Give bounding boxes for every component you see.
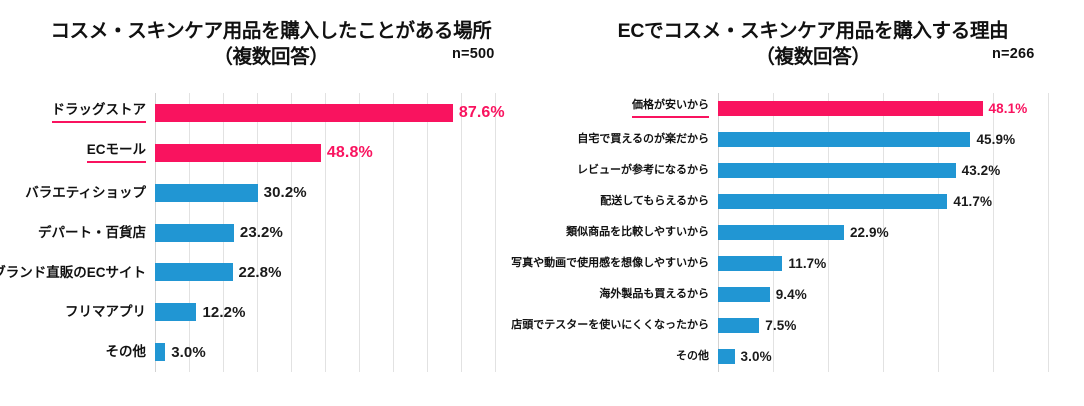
category-label: 海外製品も買えるから [599, 289, 709, 300]
category-label: 自宅で買えるのが楽だから [577, 134, 709, 145]
chart-title-left-line1: コスメ・スキンケア用品を購入したことがある場所 [50, 20, 491, 42]
bar-value-label: 11.7% [788, 256, 826, 271]
bar-value-label: 22.8% [239, 264, 282, 281]
bar [155, 184, 258, 202]
plot-area-left: ドラッグストア87.6%ECモール48.8%バラエティショップ30.2%デパート… [155, 93, 495, 372]
bar-row: バラエティショップ30.2% [155, 184, 495, 202]
category-label: その他 [676, 351, 709, 362]
bar-row: 自宅で買えるのが楽だから45.9% [718, 132, 1048, 147]
category-label: 類似商品を比較しやすいから [566, 227, 709, 238]
category-label: ECモール [87, 143, 146, 164]
category-label: 配送してもらえるから [600, 196, 709, 207]
bar-row: ECモール48.8% [155, 144, 495, 162]
category-label: 写真や動画で使用感を想像しやすいから [511, 258, 709, 269]
bar [155, 263, 233, 281]
bar-row: 配送してもらえるから41.7% [718, 194, 1048, 209]
category-label: レビューが参考になるから [577, 165, 709, 176]
bar-value-label: 7.5% [765, 318, 796, 333]
bar-value-label: 48.1% [989, 101, 1028, 116]
bar-row: ブランド直販のECサイト22.8% [155, 263, 495, 281]
category-label: 価格が安いから [632, 100, 709, 118]
bar-value-label: 3.0% [741, 349, 772, 364]
chart-title-left: コスメ・スキンケア用品を購入したことがある場所 （複数回答） [0, 18, 542, 70]
bar-value-label: 48.8% [327, 144, 373, 162]
bar-row: 類似商品を比較しやすいから22.9% [718, 225, 1048, 240]
bar-row: 海外製品も買えるから9.4% [718, 287, 1048, 302]
bar-row: レビューが参考になるから43.2% [718, 163, 1048, 178]
bar [718, 132, 970, 147]
bar-row: その他3.0% [155, 343, 495, 361]
bar [718, 318, 759, 333]
category-label: 店頭でテスターを使いにくくなったから [511, 320, 709, 331]
chart-title-block-left: コスメ・スキンケア用品を購入したことがある場所 （複数回答） [0, 18, 542, 70]
category-label: デパート・百貨店 [38, 226, 146, 240]
category-label: ドラッグストア [52, 103, 147, 124]
bar [718, 225, 844, 240]
bar-value-label: 30.2% [264, 184, 307, 201]
bar [155, 303, 196, 321]
bar [718, 287, 770, 302]
bar-value-label: 43.2% [962, 163, 1001, 178]
chart-title-right: ECでコスメ・スキンケア用品を購入する理由 （複数回答） [542, 18, 1084, 70]
bar-value-label: 41.7% [953, 194, 992, 209]
bar [155, 144, 321, 162]
category-label: フリマアプリ [65, 305, 146, 319]
bar-row: 写真や動画で使用感を想像しやすいから11.7% [718, 256, 1048, 271]
category-label: バラエティショップ [25, 186, 146, 200]
bar-value-label: 87.6% [459, 104, 505, 122]
chart-panel-ec-reasons: ECでコスメ・スキンケア用品を購入する理由 （複数回答） n=266 価格が安い… [542, 0, 1084, 406]
category-label: その他 [106, 345, 147, 359]
bar-rows-left: ドラッグストア87.6%ECモール48.8%バラエティショップ30.2%デパート… [155, 93, 495, 372]
chart-title-block-right: ECでコスメ・スキンケア用品を購入する理由 （複数回答） [542, 18, 1084, 70]
category-label: ブランド直販のECサイト [0, 266, 146, 280]
sample-size-left: n=500 [452, 46, 495, 62]
bar-value-label: 23.2% [240, 224, 283, 241]
chart-title-right-line1: ECでコスメ・スキンケア用品を購入する理由 [618, 20, 1009, 42]
gridline [1048, 93, 1049, 372]
bar [155, 224, 234, 242]
bar-row: 店頭でテスターを使いにくくなったから7.5% [718, 318, 1048, 333]
bar [718, 163, 956, 178]
bar-row: 価格が安いから48.1% [718, 101, 1048, 116]
plot-area-right: 価格が安いから48.1%自宅で買えるのが楽だから45.9%レビューが参考になるか… [718, 93, 1048, 372]
bar [718, 349, 735, 364]
bar-rows-right: 価格が安いから48.1%自宅で買えるのが楽だから45.9%レビューが参考になるか… [718, 93, 1048, 372]
gridline [495, 93, 496, 372]
bar-value-label: 9.4% [776, 287, 807, 302]
infographic-page: コスメ・スキンケア用品を購入したことがある場所 （複数回答） n=500 ドラッ… [0, 0, 1084, 406]
bar-value-label: 22.9% [850, 225, 889, 240]
bar-row: ドラッグストア87.6% [155, 104, 495, 122]
chart-panel-purchase-places: コスメ・スキンケア用品を購入したことがある場所 （複数回答） n=500 ドラッ… [0, 0, 542, 406]
bar-row: フリマアプリ12.2% [155, 303, 495, 321]
bar-value-label: 3.0% [171, 344, 206, 361]
bar [155, 104, 453, 122]
sample-size-right: n=266 [992, 46, 1035, 62]
bar [718, 194, 947, 209]
bar [718, 256, 782, 271]
bar-value-label: 45.9% [976, 132, 1015, 147]
bar [155, 343, 165, 361]
bar [718, 101, 983, 116]
bar-value-label: 12.2% [202, 304, 245, 321]
bar-row: その他3.0% [718, 349, 1048, 364]
bar-row: デパート・百貨店23.2% [155, 224, 495, 242]
